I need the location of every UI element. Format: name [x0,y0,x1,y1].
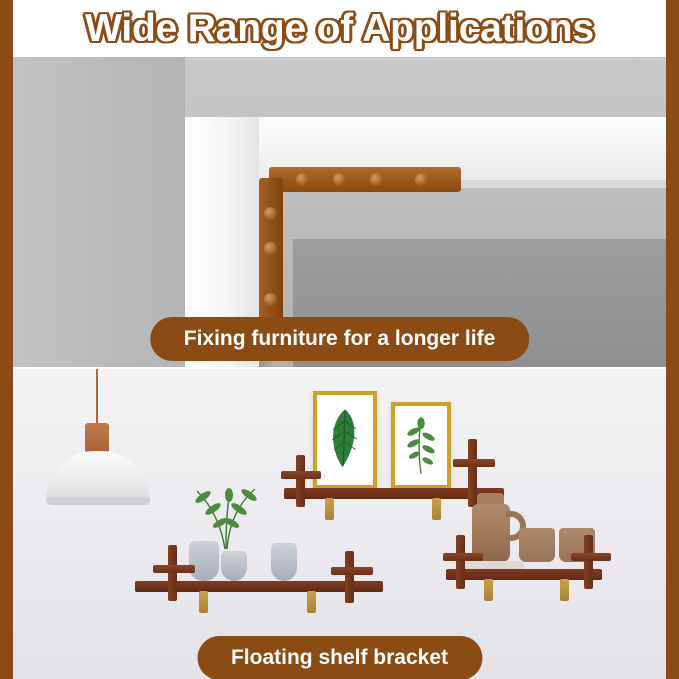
banana-leaf-artwork [322,400,368,480]
caption-shelf: Floating shelf bracket [197,636,482,679]
floating-shelf-photo [13,369,666,679]
bracket-arm [331,567,373,575]
lamp-cord [96,369,98,431]
glass-vase-small [221,551,247,581]
framed-print-banana-leaf [313,391,377,489]
plant-foliage-icon [181,479,291,551]
panel-divider [13,367,666,369]
shelf-peg [199,591,208,613]
screw-icon [370,173,383,186]
page-title-bar: Wide Range of Applications [13,0,666,57]
olive-branch-artwork [400,411,442,480]
screw-icon [264,242,277,255]
bracket-arm [571,553,611,561]
caption-furniture-label: Fixing furniture for a longer life [184,327,496,351]
bracket-post [345,551,354,603]
bracket-post [584,535,593,589]
bracket-arm [453,459,495,467]
bracket-post [168,545,177,601]
screw-icon [264,293,277,306]
caption-shelf-label: Floating shelf bracket [231,646,448,670]
leaf-icon [322,400,368,480]
shelf-peg [307,591,316,613]
product-infographic: Wide Range of Applications Fixing furnit… [0,0,679,679]
screw-icon [415,173,428,186]
bracket-arm [281,471,321,479]
framed-print-olive-branch [391,402,451,489]
bracket-arm [443,553,483,561]
shelf-peg [560,579,569,601]
bracket-post [456,535,465,589]
shelf-peg [325,498,334,520]
page-title: Wide Range of Applications [85,9,594,48]
branch-icon [400,411,442,480]
lamp-shade-rim [46,498,150,505]
screw-icon [296,173,309,186]
shelf-board-right [446,569,602,580]
ceramic-mug [519,528,555,562]
lamp-socket [85,423,109,453]
lamp-shade [46,451,150,503]
screw-icon [264,207,277,220]
panel-furniture-corner: Fixing furniture for a longer life [13,57,666,367]
shelf-peg [432,498,441,520]
bracket-arm [153,565,195,573]
shelf-peg [484,579,493,601]
panel-floating-shelf: Floating shelf bracket [13,369,666,679]
bracket-post [468,439,477,507]
bracket-post [296,455,305,507]
screw-icon [333,173,346,186]
caption-furniture: Fixing furniture for a longer life [150,317,530,361]
